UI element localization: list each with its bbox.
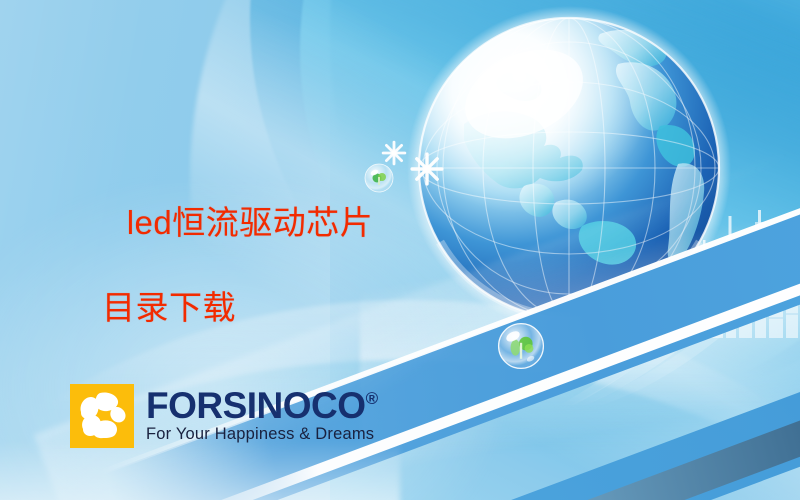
logo-mark (70, 384, 134, 448)
logo-wordmark-text: FORSINOCO (146, 385, 366, 426)
headline: led恒流驱动芯片 目录下载 (88, 160, 373, 413)
starburst-icon (410, 152, 444, 186)
logo-text-block: FORSINOCO® For Your Happiness & Dreams (146, 388, 378, 444)
registered-trademark-symbol: ® (366, 389, 378, 408)
four-petal-flower-icon (70, 384, 134, 448)
marketing-banner: led恒流驱动芯片 目录下载 FORSINOCO® For Your Happi… (0, 0, 800, 500)
company-logo: FORSINOCO® For Your Happiness & Dreams (70, 384, 378, 448)
headline-line-1: led恒流驱动芯片 (127, 204, 374, 241)
city-skyline-icon (670, 208, 800, 338)
bubble-with-leaf-icon (497, 322, 545, 370)
logo-wordmark: FORSINOCO® (146, 388, 378, 424)
headline-line-2: 目录下载 (88, 287, 373, 329)
logo-tagline: For Your Happiness & Dreams (146, 425, 378, 444)
bottom-left-glow (0, 440, 400, 500)
